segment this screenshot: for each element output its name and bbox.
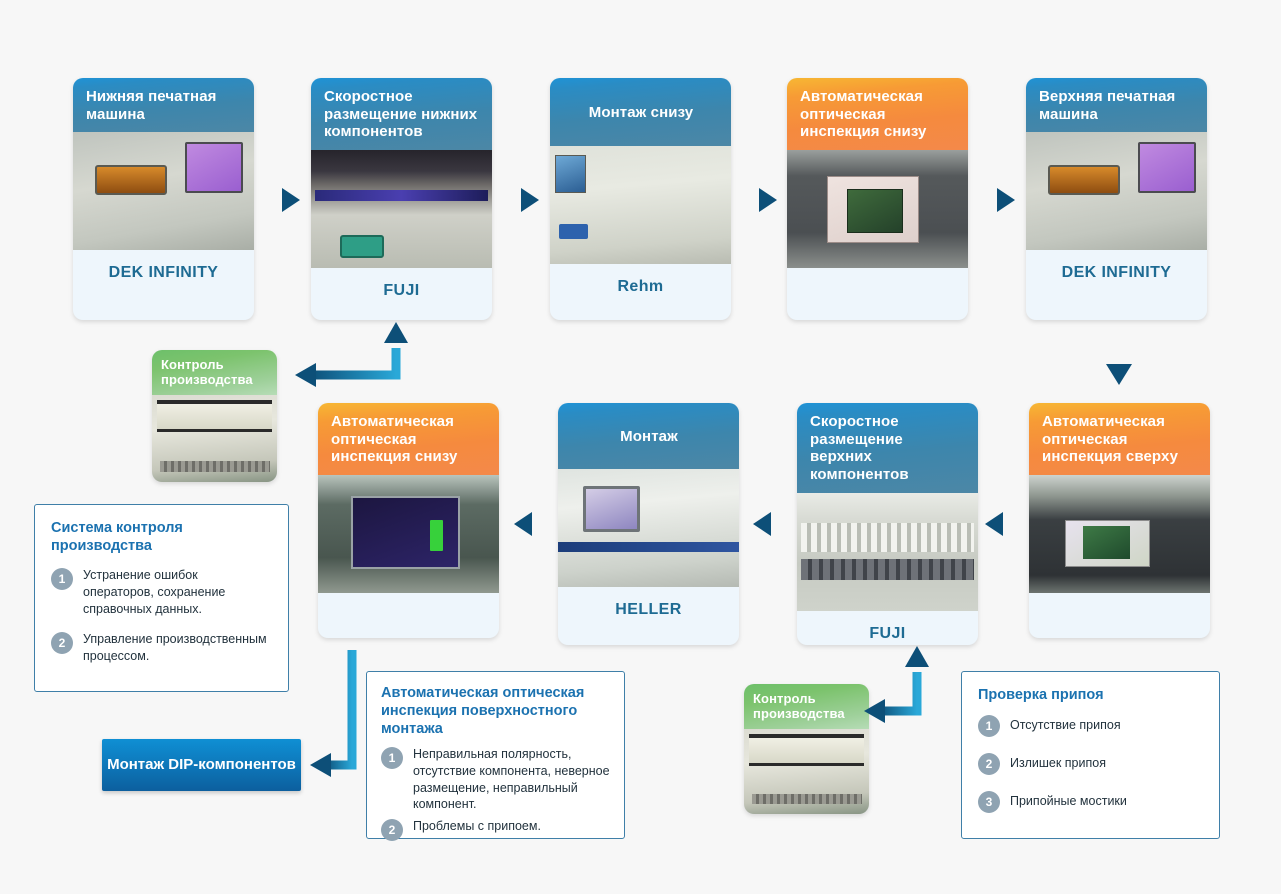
arrow-aoi-to-dip	[310, 650, 352, 777]
arrow-row2-2	[753, 512, 790, 536]
arrow-row2-3	[985, 512, 1022, 536]
arrow-layer	[0, 0, 1281, 894]
arrow-row2-to-control-top	[295, 322, 408, 387]
arrow-row2-to-control-bottom	[864, 646, 929, 723]
arrow-row1-1	[263, 188, 300, 212]
diagram-canvas: Нижняя печатная машина DEK INFINITY Скор…	[0, 0, 1281, 894]
arrow-row1-4	[978, 188, 1015, 212]
arrow-row2-1	[514, 512, 551, 536]
arrow-row1-2	[502, 188, 539, 212]
arrow-row1-to-row2	[1106, 332, 1132, 385]
arrow-row1-3	[740, 188, 777, 212]
